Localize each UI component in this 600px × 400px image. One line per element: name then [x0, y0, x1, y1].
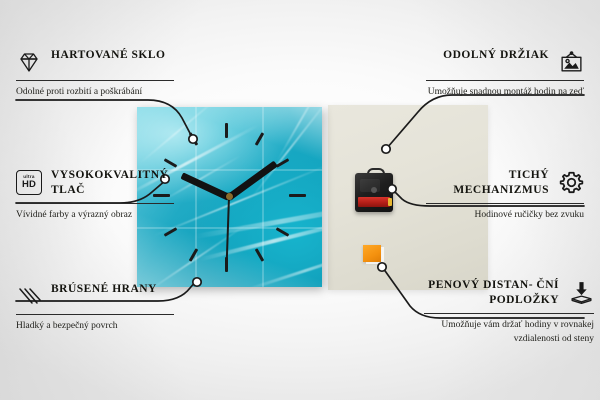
- feature-divider: [16, 80, 174, 81]
- feature-description: Odolné proti rozbití a poškrábání: [16, 86, 174, 99]
- feature-divider: [424, 313, 594, 314]
- feature-high-quality-print[interactable]: ultra HD VYSOKOKVALITNÝ TLAČ Vívidné far…: [16, 168, 174, 223]
- feature-description: Hodinové ručičky bez zvuku: [426, 209, 584, 222]
- feature-description: Umožňuje vám držať hodiny v rovnakej vzd…: [424, 319, 594, 346]
- feature-description: Umožňuje snadnou montáž hodin na zeď: [426, 86, 584, 99]
- picture-frame-icon: [558, 49, 584, 75]
- feature-description: Vívidné farby a výrazný obraz: [16, 209, 174, 222]
- clock-movement: [355, 173, 393, 212]
- feature-divider: [426, 80, 584, 81]
- diagonal-lines-icon: [16, 283, 42, 309]
- glass-seam: [137, 227, 322, 229]
- battery-terminal: [388, 198, 392, 206]
- feature-divider: [16, 314, 174, 315]
- ultra-hd-icon: ultra HD: [16, 169, 42, 195]
- foam-spacer-pad: [363, 245, 381, 262]
- feather-streak: [139, 107, 225, 164]
- feature-title: BRÚSENÉ HRANY: [51, 282, 174, 297]
- feature-title: TICHÝ MECHANIZMUS: [426, 168, 549, 198]
- arrow-down-pad-icon: [568, 279, 594, 305]
- movement-shaft: [371, 187, 377, 193]
- movement-detail: [360, 179, 380, 192]
- feature-title: ODOLNÝ DRŽIAK: [426, 48, 549, 63]
- feature-divider: [16, 203, 174, 204]
- feature-description: Hladký a bezpečný povrch: [16, 320, 174, 333]
- feature-title: HARTOVANÉ SKLO: [51, 48, 174, 63]
- feature-divider: [426, 203, 584, 204]
- feature-durable-holder[interactable]: ODOLNÝ DRŽIAK Umožňuje snadnou montáž ho…: [426, 48, 584, 99]
- feature-foam-spacers[interactable]: PENOVÝ DISTAN- ČNÍ PODLOŽKY Umožňuje vám…: [424, 278, 594, 346]
- infographic-stage: HARTOVANÉ SKLO Odolné proti rozbití a po…: [0, 0, 600, 400]
- clock-tick: [289, 194, 306, 197]
- diamond-icon: [16, 49, 42, 75]
- clock-tick: [225, 123, 228, 138]
- clock-center-cap: [226, 193, 233, 200]
- feature-title: PENOVÝ DISTAN- ČNÍ PODLOŽKY: [424, 278, 559, 308]
- glass-seam: [195, 107, 197, 287]
- movement-battery: [358, 197, 390, 207]
- feature-polished-edges[interactable]: BRÚSENÉ HRANY Hladký a bezpečný povrch: [16, 282, 174, 333]
- gear-icon: [558, 169, 584, 195]
- feature-tempered-glass[interactable]: HARTOVANÉ SKLO Odolné proti rozbití a po…: [16, 48, 174, 99]
- feature-silent-mechanism[interactable]: TICHÝ MECHANIZMUS Hodinové ručičky bez z…: [426, 168, 584, 223]
- feature-title: VYSOKOKVALITNÝ TLAČ: [51, 168, 174, 198]
